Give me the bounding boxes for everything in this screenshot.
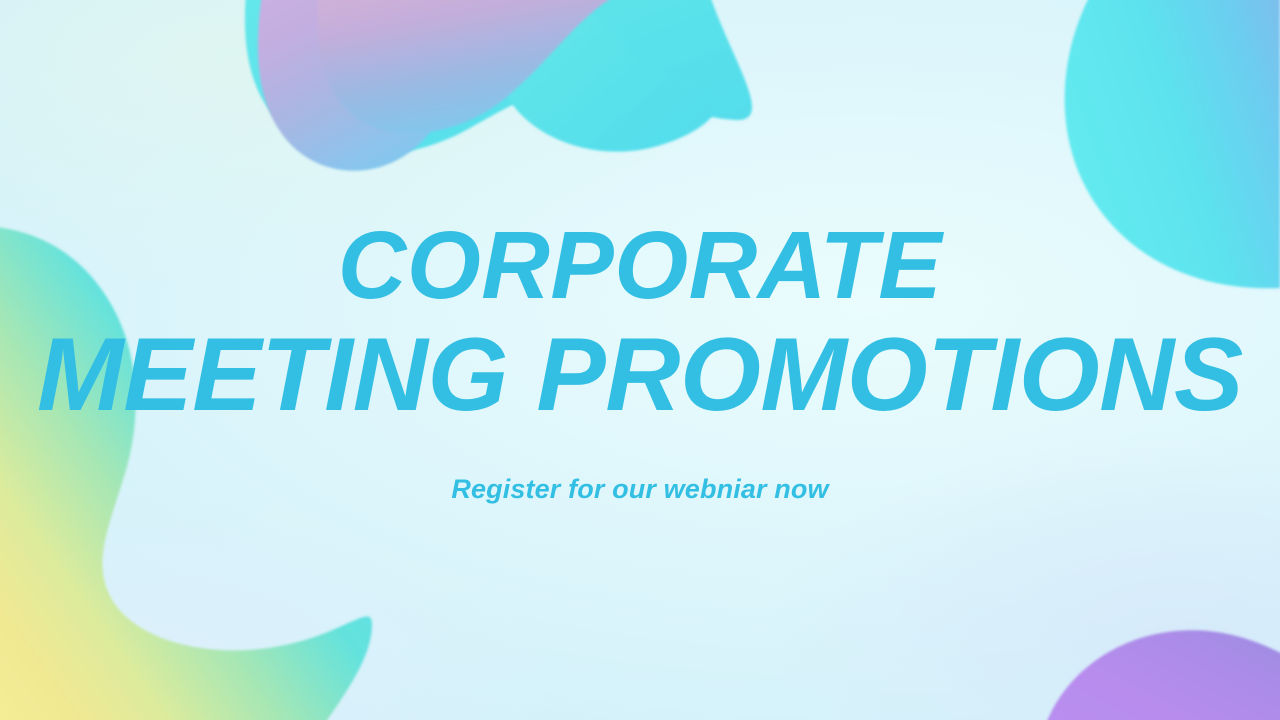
- headline-line-1: CORPORATE: [43, 215, 1237, 317]
- page-title: CORPORATE MEETING PROMOTIONS: [37, 215, 1243, 431]
- subtitle-cta: Register for our webniar now: [451, 474, 828, 505]
- promo-poster: CORPORATE MEETING PROMOTIONS Register fo…: [0, 0, 1280, 720]
- headline-line-2: MEETING PROMOTIONS: [37, 320, 1243, 430]
- poster-content: CORPORATE MEETING PROMOTIONS Register fo…: [0, 0, 1280, 720]
